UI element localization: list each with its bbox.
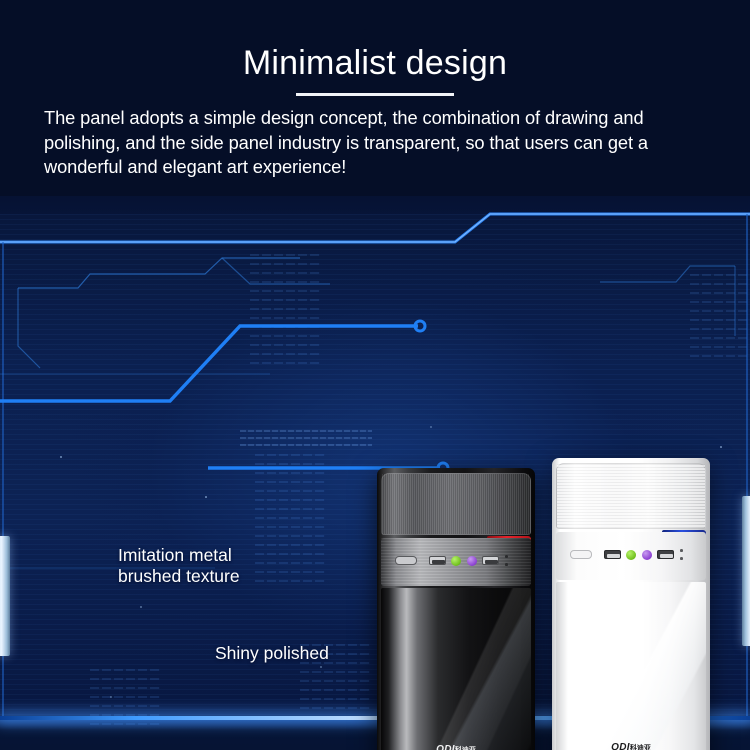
audio-jack-purple[interactable] [467, 556, 477, 566]
usb-port[interactable] [429, 556, 446, 565]
brand-name: QDI [436, 744, 455, 750]
header-description: The panel adopts a simple design concept… [44, 106, 716, 180]
led-indicator [680, 549, 683, 552]
black-computer-case[interactable]: QDI科迪亚 [377, 468, 535, 750]
white-case-body: QDI科迪亚 [552, 458, 710, 750]
usb-port[interactable] [657, 550, 674, 559]
title-underline [296, 93, 454, 96]
brand-name-cn: 科迪亚 [630, 745, 651, 750]
black-case-body: QDI科迪亚 [377, 468, 535, 750]
brushed-texture [382, 474, 530, 534]
usb-port[interactable] [604, 550, 621, 559]
page-title: Minimalist design [0, 44, 750, 83]
audio-jack-purple[interactable] [642, 550, 652, 560]
audio-jack-green[interactable] [626, 550, 636, 560]
black-case-brushed-top-panel [381, 473, 531, 535]
brand-name: QDI [611, 742, 630, 750]
right-light-accent [742, 496, 750, 646]
callout-label-brushed-texture: Imitation metal brushed texture [118, 545, 240, 587]
black-case-io-panel [381, 538, 531, 586]
led-indicator [680, 557, 683, 560]
left-light-accent [0, 536, 10, 656]
header-section: Minimalist design The panel adopts a sim… [0, 0, 750, 196]
gloss-reflection [381, 588, 531, 750]
led-indicator [505, 555, 508, 558]
audio-jack-green[interactable] [451, 556, 461, 566]
brushed-texture [557, 464, 705, 528]
white-case-io-panel [556, 532, 706, 580]
brand-logo: QDI科迪亚 [556, 742, 706, 750]
black-case-glossy-panel: QDI科迪亚 [381, 588, 531, 750]
callout-label-shiny-polished: Shiny polished [215, 643, 329, 664]
card-slot[interactable] [395, 556, 417, 565]
white-computer-case[interactable]: QDI科迪亚 [552, 458, 710, 750]
card-slot[interactable] [570, 550, 592, 559]
white-case-brushed-top-panel [556, 463, 706, 529]
white-case-glossy-panel: QDI科迪亚 [556, 582, 706, 750]
led-indicator [505, 563, 508, 566]
usb-port[interactable] [482, 556, 499, 565]
brand-logo: QDI科迪亚 [381, 744, 531, 750]
product-showcase-panel: QDI科迪亚 [0, 196, 750, 750]
